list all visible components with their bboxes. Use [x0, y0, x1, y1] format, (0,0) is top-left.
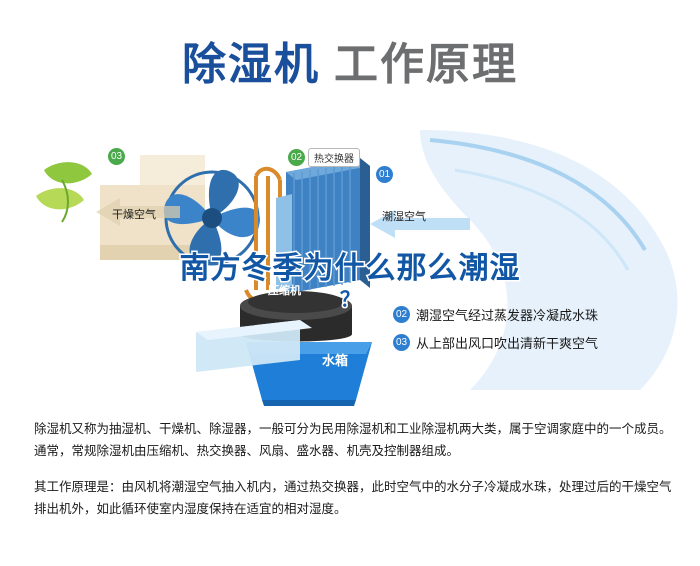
compressor-label: 压缩机: [268, 282, 301, 298]
label-heat-exchanger: 02热交换器: [288, 148, 360, 167]
list-item: 03 从上部出风口吹出清新干爽空气: [393, 333, 693, 352]
page-root: 除湿机工作原理: [0, 0, 700, 566]
dehumidifier-diagram: 03 干燥空气 02热交换器 01 潮湿空气 压缩机 水箱: [0, 110, 700, 410]
badge-02-diagram: 02: [288, 149, 305, 166]
heat-exchanger: [286, 158, 370, 294]
badge-02-step: 02: [393, 306, 410, 323]
page-title-secondary: 工作原理: [334, 39, 518, 90]
moist-air-text: 潮湿空气: [382, 208, 426, 224]
body-copy: 除湿机又称为抽湿机、干燥机、除湿器，一般可分为民用除湿机和工业除湿机两大类，属于…: [34, 418, 674, 520]
dry-air-text: 干燥空气: [112, 206, 156, 222]
paragraph-2-line-2: 排出机外，如此循环使室内湿度保持在适宜的相对湿度。: [34, 498, 674, 520]
paragraph-2-line-1: 其工作原理是：由风机将潮湿空气抽入机内，通过热交换器，此时空气中的水分子冷凝成水…: [34, 476, 674, 498]
list-item: 02 潮湿空气经过蒸发器冷凝成水珠: [393, 305, 693, 324]
evaporator: [276, 194, 292, 290]
paragraph-1-line-2: 通常，常规除湿机由压缩机、热交换器、风扇、盛水器、机壳及控制器组成。: [34, 440, 674, 462]
badge-03-step: 03: [393, 334, 410, 351]
leaf-icon: [36, 162, 92, 222]
paragraph-1: 除湿机又称为抽湿机、干燥机、除湿器，一般可分为民用除湿机和工业除湿机两大类，属于…: [34, 418, 674, 462]
step-text: 潮湿空气经过蒸发器冷凝成水珠: [416, 305, 598, 324]
label-dry-air-text: 干燥空气: [108, 206, 156, 222]
label-dry-air: 03: [108, 148, 125, 165]
label-moist-air-text: 潮湿空气: [378, 208, 426, 224]
page-title-primary: 除湿机: [182, 39, 320, 90]
page-title: 除湿机工作原理: [0, 28, 700, 92]
badge-01-diagram: 01: [376, 166, 393, 183]
label-moist-air: 01: [376, 166, 393, 183]
steps-list: 02 潮湿空气经过蒸发器冷凝成水珠 03 从上部出风口吹出清新干爽空气: [393, 305, 693, 361]
water-tank-label: 水箱: [322, 350, 348, 369]
paragraph-2: 其工作原理是：由风机将潮湿空气抽入机内，通过热交换器，此时空气中的水分子冷凝成水…: [34, 476, 674, 520]
badge-03-diagram: 03: [108, 148, 125, 165]
heat-exchanger-text: 热交换器: [308, 148, 360, 167]
step-text: 从上部出风口吹出清新干爽空气: [416, 333, 598, 352]
paragraph-1-line-1: 除湿机又称为抽湿机、干燥机、除湿器，一般可分为民用除湿机和工业除湿机两大类，属于…: [34, 418, 674, 440]
